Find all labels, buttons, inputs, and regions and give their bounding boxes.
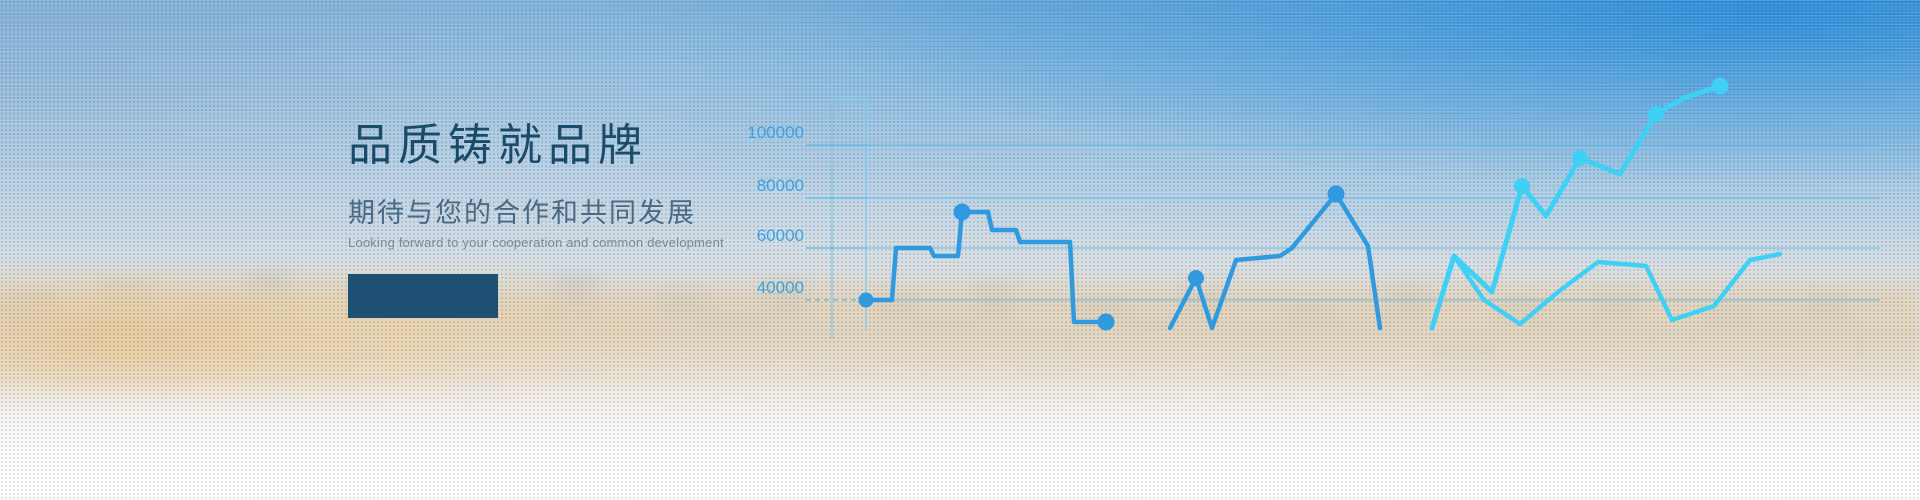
chart-ytick-40000: 40000 — [757, 278, 804, 297]
line-chart: 100000 80000 60000 40000 — [740, 70, 1900, 360]
chart-series-1-marker-start — [859, 293, 874, 308]
chart-series-4-marker-b — [1572, 150, 1588, 166]
chart-series-1-marker-peak — [954, 204, 971, 221]
chart-gridlines — [806, 145, 1880, 300]
chart-ytick-60000: 60000 — [757, 226, 804, 245]
chart-series-3-line — [1432, 254, 1780, 328]
chart-ytick-80000: 80000 — [757, 176, 804, 195]
chart-series-4-marker-d — [1712, 78, 1729, 95]
chart-series-2-marker-b — [1328, 186, 1345, 203]
chart-series-2-marker-a — [1188, 270, 1204, 286]
chart-series-1-line — [866, 212, 1106, 322]
chart-ytick-100000: 100000 — [747, 123, 804, 142]
hero-cta-button[interactable] — [348, 274, 498, 318]
chart-series-4-line — [1432, 86, 1720, 328]
chart-series-1-marker-end — [1098, 314, 1115, 331]
hero-banner: 品质铸就品牌 期待与您的合作和共同发展 Looking forward to y… — [0, 0, 1920, 500]
chart-series-4-marker-a — [1514, 178, 1530, 194]
chart-series-4-marker-c — [1648, 106, 1664, 122]
chart-series-2-line — [1170, 194, 1380, 328]
chart-svg: 100000 80000 60000 40000 — [740, 70, 1900, 360]
